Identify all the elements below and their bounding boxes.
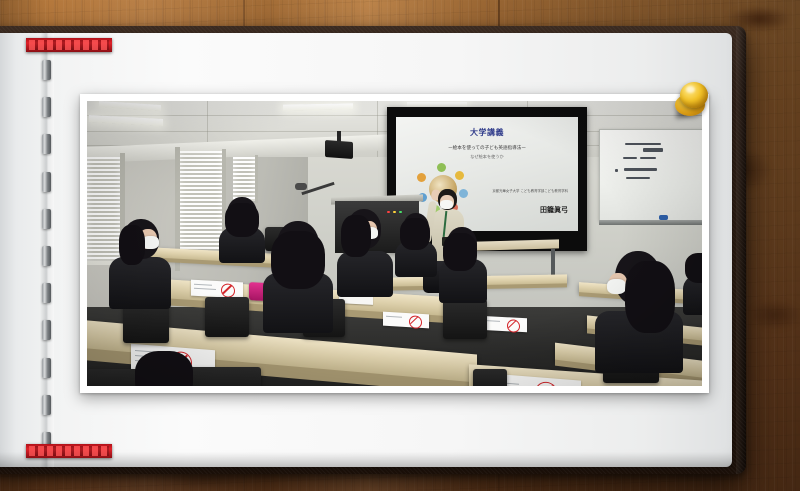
photo-frame[interactable]: 大学講義 ー絵本を使っての子ども英語指導法ー なぜ絵本を使うか 京都光華女子大学…: [80, 94, 709, 393]
window-frame: [255, 155, 258, 203]
slide-title: 大学講義: [396, 127, 578, 138]
binding-ring: [42, 246, 51, 266]
no-seating-sign: [383, 312, 429, 329]
student: [395, 213, 437, 275]
student: [439, 227, 487, 301]
desk-lamp-head: [295, 183, 307, 190]
student: [595, 251, 683, 371]
binding-ring: [42, 358, 51, 378]
binding-ring: [42, 97, 51, 117]
slide-organization: 京都光華女子大学 こども教育学部こども教育学科: [396, 189, 568, 194]
whiteboard-tray: [599, 220, 702, 225]
ceiling-light: [283, 103, 353, 110]
binding-ring: [42, 320, 51, 340]
student: [135, 351, 195, 386]
album-cover-edge: [736, 26, 746, 474]
chair: [205, 297, 249, 337]
binding-ring: [42, 209, 51, 229]
screenshot-root: 大学講義 ー絵本を使っての子ども英語指導法ー なぜ絵本を使うか 京都光華女子大学…: [0, 0, 800, 491]
red-ribbon-bottom[interactable]: [26, 444, 112, 458]
student: [109, 217, 175, 305]
pushpin-icon[interactable]: [672, 82, 712, 130]
red-ribbon-top[interactable]: [26, 38, 112, 52]
binding-ring: [42, 283, 51, 303]
chair: [443, 299, 487, 339]
binding-ring: [42, 60, 51, 80]
student: [337, 209, 393, 293]
binding-ring: [42, 395, 51, 415]
window-blind: [233, 157, 255, 199]
chair: [473, 369, 507, 386]
binding-ring: [42, 172, 51, 192]
binding-ring: [42, 134, 51, 154]
slide-subtitle: ー絵本を使っての子ども英語指導法ー: [396, 145, 578, 151]
wood-knot: [748, 300, 800, 330]
whiteboard-marker: [659, 215, 668, 220]
ceiling-projector-icon: [325, 140, 353, 159]
no-seating-sign: [191, 280, 243, 299]
slide-subtitle-secondary: なぜ絵本を使うか: [396, 154, 578, 160]
student: [683, 253, 702, 313]
student: [219, 197, 265, 261]
student: [263, 221, 335, 331]
window-blind: [179, 151, 223, 259]
classroom-photo: 大学講義 ー絵本を使っての子ども英語指導法ー なぜ絵本を使うか 京都光華女子大学…: [87, 101, 702, 386]
